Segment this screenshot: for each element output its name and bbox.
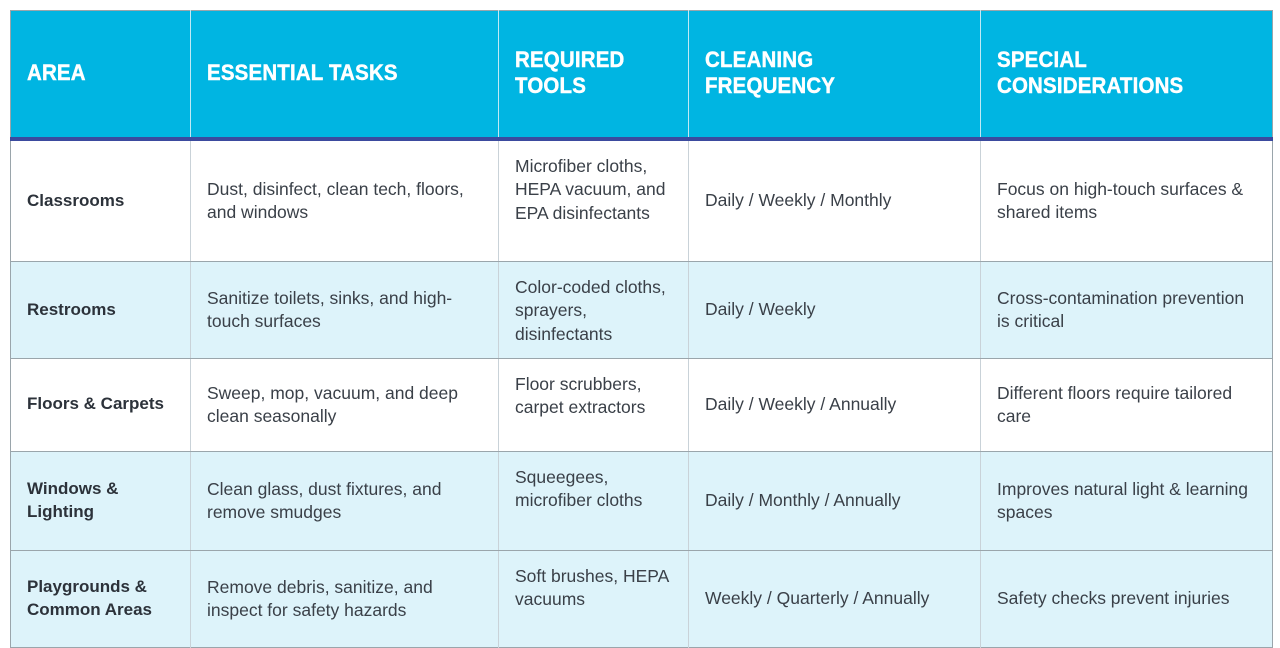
cell-special-considerations: Cross-contamination prevention is critic… [981,262,1273,359]
cell-special-considerations: Different floors require tailored care [981,358,1273,451]
column-header-cleaning-frequency: CLEANING FREQUENCY [689,11,981,140]
cell-tools: Microfiber cloths, HEPA vacuum, and EPA … [499,139,689,262]
table-row: Playgrounds & Common Areas Remove debris… [11,550,1273,647]
column-header-area-label: AREA [27,60,164,86]
cell-frequency: Daily / Weekly / Annually [689,358,981,451]
column-header-area: AREA [11,11,191,140]
column-header-required-tools-label: REQUIRED TOOLS [515,47,661,98]
cell-tasks: Clean glass, dust fixtures, and remove s… [191,451,499,550]
cell-frequency: Daily / Monthly / Annually [689,451,981,550]
cell-area: Floors & Carpets [11,358,191,451]
cell-tools: Floor scrubbers, carpet extractors [499,358,689,451]
table-row: Restrooms Sanitize toilets, sinks, and h… [11,262,1273,359]
column-header-special-considerations-label: SPECIAL CONSIDERATIONS [997,47,1238,98]
table-container: AREA ESSENTIAL TASKS REQUIRED TOOLS CLEA… [0,0,1280,606]
table-row: Windows & Lighting Clean glass, dust fix… [11,451,1273,550]
cell-tools: Color-coded cloths, sprayers, disinfecta… [499,262,689,359]
cell-frequency: Daily / Weekly / Monthly [689,139,981,262]
cell-tools: Soft brushes, HEPA vacuums [499,550,689,647]
cell-special-considerations: Focus on high-touch surfaces & shared it… [981,139,1273,262]
cell-area: Playgrounds & Common Areas [11,550,191,647]
table-row: Floors & Carpets Sweep, mop, vacuum, and… [11,358,1273,451]
table-header: AREA ESSENTIAL TASKS REQUIRED TOOLS CLEA… [11,11,1273,140]
cell-tasks: Dust, disinfect, clean tech, floors, and… [191,139,499,262]
cell-frequency: Weekly / Quarterly / Annually [689,550,981,647]
cell-tasks: Sanitize toilets, sinks, and high-touch … [191,262,499,359]
column-header-special-considerations: SPECIAL CONSIDERATIONS [981,11,1273,140]
cell-tools: Squeegees, microfiber cloths [499,451,689,550]
cell-special-considerations: Safety checks prevent injuries [981,550,1273,647]
column-header-required-tools: REQUIRED TOOLS [499,11,689,140]
cell-area: Windows & Lighting [11,451,191,550]
cell-tasks: Remove debris, sanitize, and inspect for… [191,550,499,647]
column-header-cleaning-frequency-label: CLEANING FREQUENCY [705,47,946,98]
cell-tasks: Sweep, mop, vacuum, and deep clean seaso… [191,358,499,451]
column-header-essential-tasks: ESSENTIAL TASKS [191,11,499,140]
column-header-essential-tasks-label: ESSENTIAL TASKS [207,60,463,86]
cell-area: Restrooms [11,262,191,359]
cell-area: Classrooms [11,139,191,262]
table-body: Classrooms Dust, disinfect, clean tech, … [11,139,1273,647]
cleaning-checklist-table: AREA ESSENTIAL TASKS REQUIRED TOOLS CLEA… [10,10,1273,648]
header-row: AREA ESSENTIAL TASKS REQUIRED TOOLS CLEA… [11,11,1273,140]
cell-frequency: Daily / Weekly [689,262,981,359]
cell-special-considerations: Improves natural light & learning spaces [981,451,1273,550]
table-row: Classrooms Dust, disinfect, clean tech, … [11,139,1273,262]
